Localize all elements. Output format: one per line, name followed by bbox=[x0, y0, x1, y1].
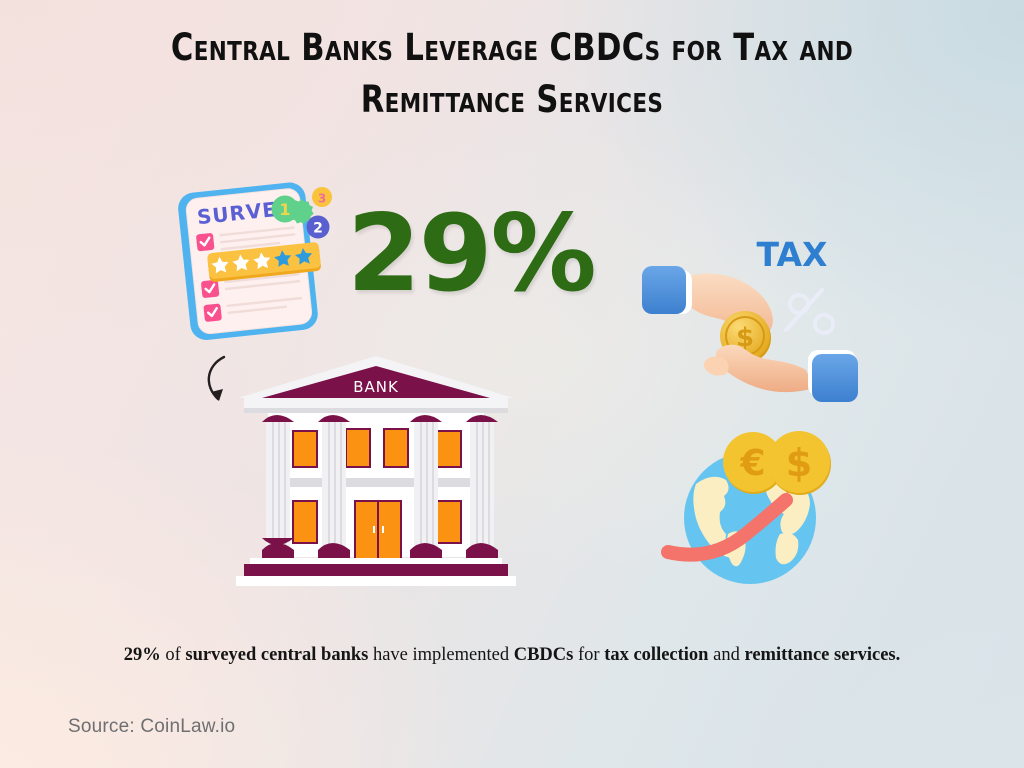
caption-segment-7: and bbox=[708, 645, 744, 665]
tax-hands-coin-illustration: TAX $ bbox=[632, 232, 868, 418]
survey-badge-3: 3 bbox=[312, 187, 332, 207]
survey-badge-1: 1 bbox=[272, 196, 314, 224]
caption-segment-6: tax collection bbox=[604, 645, 708, 665]
caption-text: 29% of surveyed central banks have imple… bbox=[92, 640, 932, 670]
caption-segment-3: have implemented bbox=[368, 645, 513, 665]
percent-symbol bbox=[786, 290, 833, 333]
svg-text:€: € bbox=[739, 443, 765, 484]
stat-value: 29% bbox=[347, 201, 595, 307]
svg-text:2: 2 bbox=[313, 221, 323, 237]
bank-sign-text: BANK bbox=[353, 378, 399, 396]
caption-segment-0: 29% bbox=[124, 645, 161, 665]
svg-text:3: 3 bbox=[318, 192, 326, 206]
caption-segment-4: CBDCs bbox=[514, 645, 574, 665]
caption-segment-8: remittance services. bbox=[744, 645, 900, 665]
survey-badge-2: 2 bbox=[307, 216, 330, 239]
infographic-canvas: Central Banks Leverage CBDCs for Tax and… bbox=[0, 0, 1024, 768]
source-label: Source: CoinLaw.io bbox=[68, 716, 235, 738]
page-title-line-1: Central Banks Leverage CBDCs for Tax and bbox=[144, 22, 880, 74]
bank-building-illustration: BANK bbox=[228, 352, 524, 598]
svg-text:1: 1 bbox=[279, 200, 290, 219]
svg-text:$: $ bbox=[786, 441, 812, 485]
survey-clipboard-illustration: SURVEY bbox=[172, 178, 348, 344]
page-title-line-2: Remittance Services bbox=[144, 74, 880, 126]
caption-segment-1: of bbox=[161, 645, 186, 665]
bank-door bbox=[354, 500, 402, 558]
caption-segment-5: for bbox=[573, 645, 604, 665]
page-title: Central Banks Leverage CBDCs for Tax and… bbox=[144, 22, 880, 126]
caption-segment-2: surveyed central banks bbox=[185, 645, 368, 665]
tax-label-text: TAX bbox=[757, 235, 828, 274]
receiving-hand bbox=[704, 345, 858, 402]
global-remittance-illustration: € $ bbox=[654, 422, 846, 598]
